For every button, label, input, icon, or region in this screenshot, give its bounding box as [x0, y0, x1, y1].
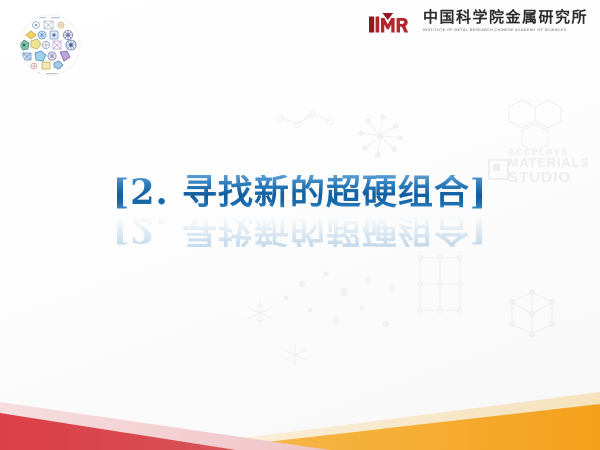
slide-title-reflection: [2. 寻找新的超硬组合]: [113, 212, 488, 247]
imr-logotype-icon: [369, 13, 417, 35]
materials-text: MATERIALS: [508, 157, 590, 170]
imr-institute-logo: 中国科学院金属研究所 INSTITUTE OF METAL RESEARCH,C…: [369, 10, 588, 40]
molecular-watermark-graphics: [240, 88, 600, 418]
presentation-slide: ACCELRYS MATERIALS STUDIO: [0, 0, 600, 450]
molecular-collage-logo: [18, 13, 82, 77]
imr-chinese-name: 中国科学院金属研究所: [423, 10, 588, 25]
accelrys-brand-text: ACCELRYS: [508, 148, 590, 157]
molecular-collage-icon: [18, 13, 82, 77]
slide-title: [2. 寻找新的超硬组合]: [113, 175, 488, 210]
decorative-bands-svg: [0, 380, 600, 450]
imr-name-block: 中国科学院金属研究所 INSTITUTE OF METAL RESEARCH,C…: [423, 10, 588, 32]
bottom-decoration: [0, 380, 600, 450]
imr-mark-icon: [369, 13, 417, 35]
imr-english-name: INSTITUTE OF METAL RESEARCH,CHINESE ACAD…: [423, 28, 588, 32]
title-block: [2. 寻找新的超硬组合] [2. 寻找新的超硬组合]: [0, 175, 600, 247]
